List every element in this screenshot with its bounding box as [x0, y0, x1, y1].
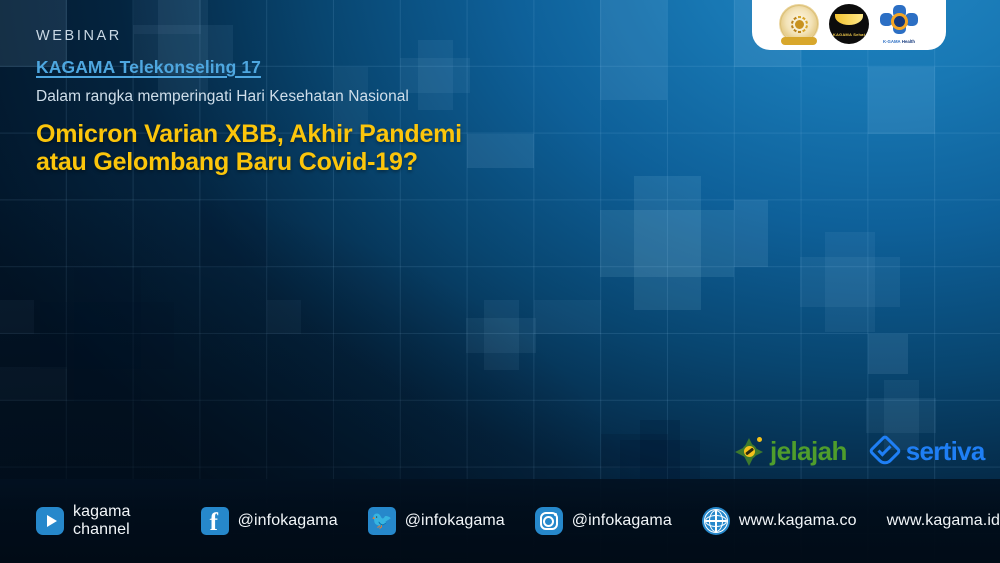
globe-icon	[702, 507, 730, 535]
page-title: Omicron Varian XBB, Akhir Pandemi atau G…	[36, 120, 476, 176]
swoosh-shape	[835, 14, 862, 24]
jelajah-logo[interactable]: jelajah	[735, 436, 847, 467]
series-title: KAGAMA Telekonseling 17	[36, 57, 636, 78]
kgama-health-label-suffix: Health	[901, 39, 915, 44]
facebook-icon: f	[201, 507, 229, 535]
kgama-health-label: K-GAMA Health	[879, 39, 919, 44]
instagram-icon	[535, 507, 563, 535]
twitter-label: @infokagama	[405, 512, 505, 530]
sertiva-logo[interactable]: sertiva	[871, 436, 985, 467]
compass-icon	[735, 438, 763, 466]
seal-hub	[793, 18, 806, 31]
kgama-health-label-prefix: K-GAMA	[883, 39, 901, 44]
footer-item-facebook[interactable]: f @infokagama	[201, 507, 338, 535]
shield-check-icon	[871, 438, 899, 466]
sertiva-label: sertiva	[906, 436, 985, 467]
institution-logo-card: KAGAMA Sehat K-GAMA Health	[752, 0, 946, 50]
cross-shape	[600, 176, 734, 310]
event-subtitle: Dalam rangka memperingati Hari Kesehatan…	[36, 88, 636, 106]
footer-bar: kagama channel f @infokagama 🐦 @infokaga…	[0, 479, 1000, 563]
secondary-website-label[interactable]: www.kagama.id	[887, 512, 1000, 530]
footer-item-youtube[interactable]: kagama channel	[36, 503, 171, 539]
webinar-poster: KAGAMA Sehat K-GAMA Health WEBINAR KAGAM…	[0, 0, 1000, 563]
health-ring	[891, 13, 908, 30]
youtube-icon	[36, 507, 64, 535]
kagama-sehat-label: KAGAMA Sehat	[829, 32, 869, 37]
eyebrow-label: WEBINAR	[36, 28, 636, 44]
kagama-sehat-logo: KAGAMA Sehat	[829, 4, 869, 44]
jelajah-label: jelajah	[770, 436, 847, 467]
youtube-label: kagama channel	[73, 503, 171, 539]
website-label: www.kagama.co	[739, 512, 857, 530]
ugm-seal-logo	[779, 4, 819, 44]
footer-item-website[interactable]: www.kagama.co	[702, 507, 857, 535]
kgama-health-logo: K-GAMA Health	[879, 4, 919, 44]
headline-block: WEBINAR KAGAMA Telekonseling 17 Dalam ra…	[36, 28, 636, 176]
footer-item-instagram[interactable]: @infokagama	[535, 507, 672, 535]
partner-logos: jelajah sertiva	[735, 436, 985, 467]
twitter-icon: 🐦	[368, 507, 396, 535]
facebook-label: @infokagama	[238, 512, 338, 530]
seal-band	[781, 37, 816, 45]
footer-item-twitter[interactable]: 🐦 @infokagama	[368, 507, 505, 535]
instagram-label: @infokagama	[572, 512, 672, 530]
